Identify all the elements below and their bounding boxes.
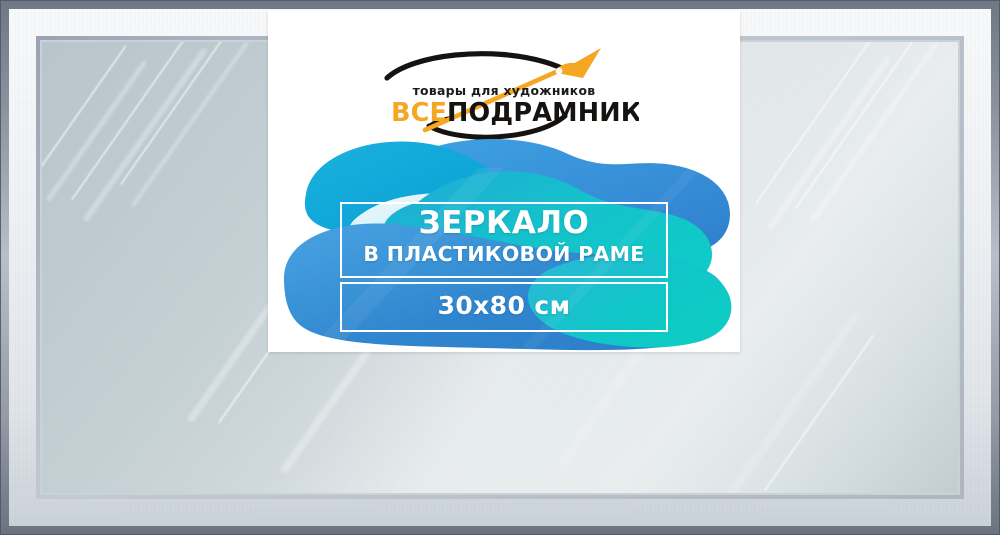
brand-logo-svg: товары для художников ВСЕ ПОДРАМНИКИ (369, 40, 639, 140)
brand-tagline: товары для художников (413, 83, 596, 98)
product-title: ЗЕРКАЛО (340, 206, 668, 240)
brand-logo: товары для художников ВСЕ ПОДРАМНИКИ (268, 40, 740, 140)
product-subtitle: В ПЛАСТИКОВОЙ РАМЕ (328, 242, 680, 266)
product-label-card: товары для художников ВСЕ ПОДРАМНИКИ (268, 10, 740, 352)
product-size: 30x80 см (340, 291, 668, 321)
brand-name-main: ПОДРАМНИКИ (447, 98, 639, 128)
brand-name-prefix: ВСЕ (391, 98, 447, 128)
product-photo: товары для художников ВСЕ ПОДРАМНИКИ (0, 0, 1000, 535)
